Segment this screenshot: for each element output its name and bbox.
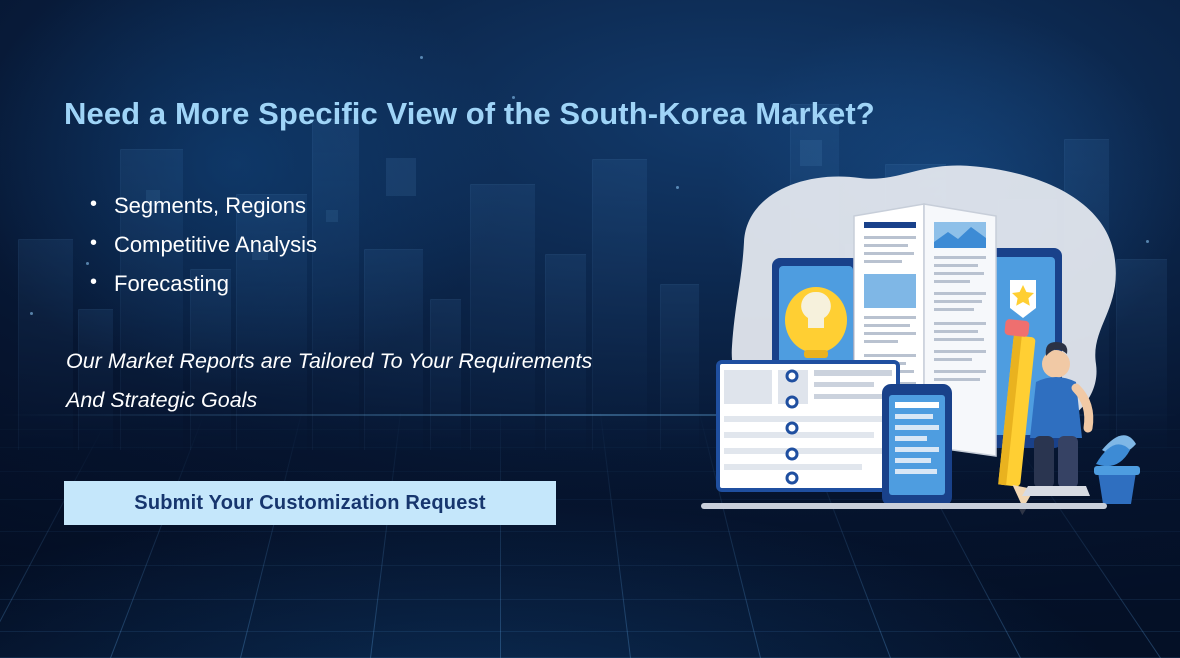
notebook-icon	[718, 362, 898, 490]
tagline-text: Our Market Reports are Tailored To Your …	[66, 342, 626, 420]
banner-content: Need a More Specific View of the South-K…	[0, 0, 700, 658]
promo-banner: Need a More Specific View of the South-K…	[0, 0, 1180, 658]
illustration-svg	[684, 150, 1164, 550]
list-item: Competitive Analysis	[86, 225, 317, 264]
page-title: Need a More Specific View of the South-K…	[64, 96, 1074, 132]
feature-list: Segments, Regions Competitive Analysis F…	[86, 186, 317, 303]
plant-pot-icon	[1094, 435, 1140, 504]
smartphone-icon	[882, 384, 952, 506]
list-item: Segments, Regions	[86, 186, 317, 225]
market-report-illustration	[684, 150, 1164, 550]
submit-customization-request-button[interactable]: Submit Your Customization Request	[64, 481, 556, 525]
list-item: Forecasting	[86, 264, 317, 303]
